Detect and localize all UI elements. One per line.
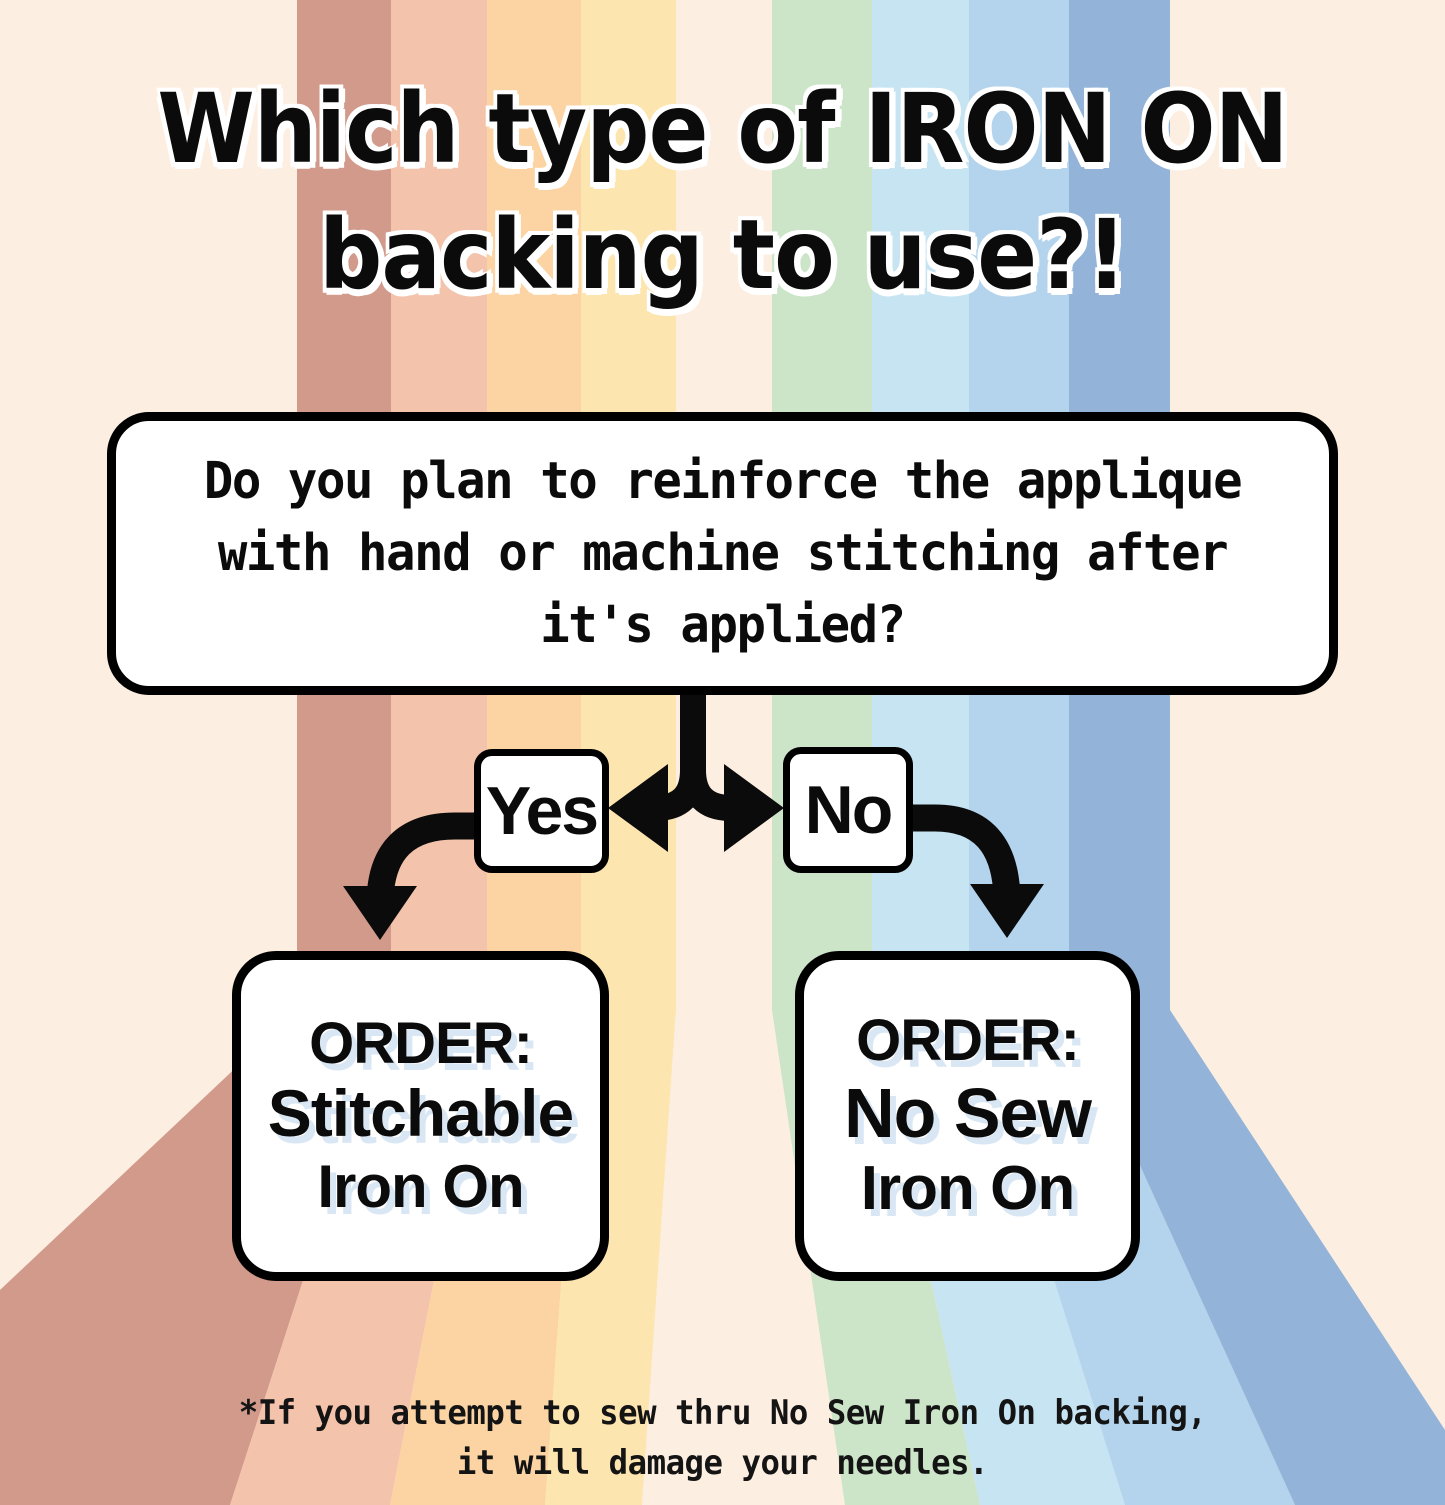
result-left-line-1: ORDER: [309,1014,532,1074]
result-right-line-3: Iron On [861,1157,1074,1221]
result-right-line-2: No Sew [844,1077,1091,1149]
result-box-no-sew: ORDER: No Sew Iron On [795,951,1140,1281]
result-box-stitchable: ORDER: Stitchable Iron On [232,951,609,1281]
background-stripes [0,0,1445,1505]
question-text: Do you plan to reinforce the applique wi… [140,446,1304,662]
result-left-line-3: Iron On [317,1156,523,1218]
branch-chip-no-label: No [805,776,892,844]
branch-chip-no: No [783,747,913,873]
result-left-line-2: Stitchable [268,1080,573,1148]
infographic-canvas: Which type of IRON ON backing to use?! D… [0,0,1445,1505]
branch-chip-yes-label: Yes [486,777,597,845]
question-box: Do you plan to reinforce the applique wi… [107,412,1338,695]
result-right-line-1: ORDER: [856,1011,1079,1071]
branch-chip-yes: Yes [474,749,609,873]
